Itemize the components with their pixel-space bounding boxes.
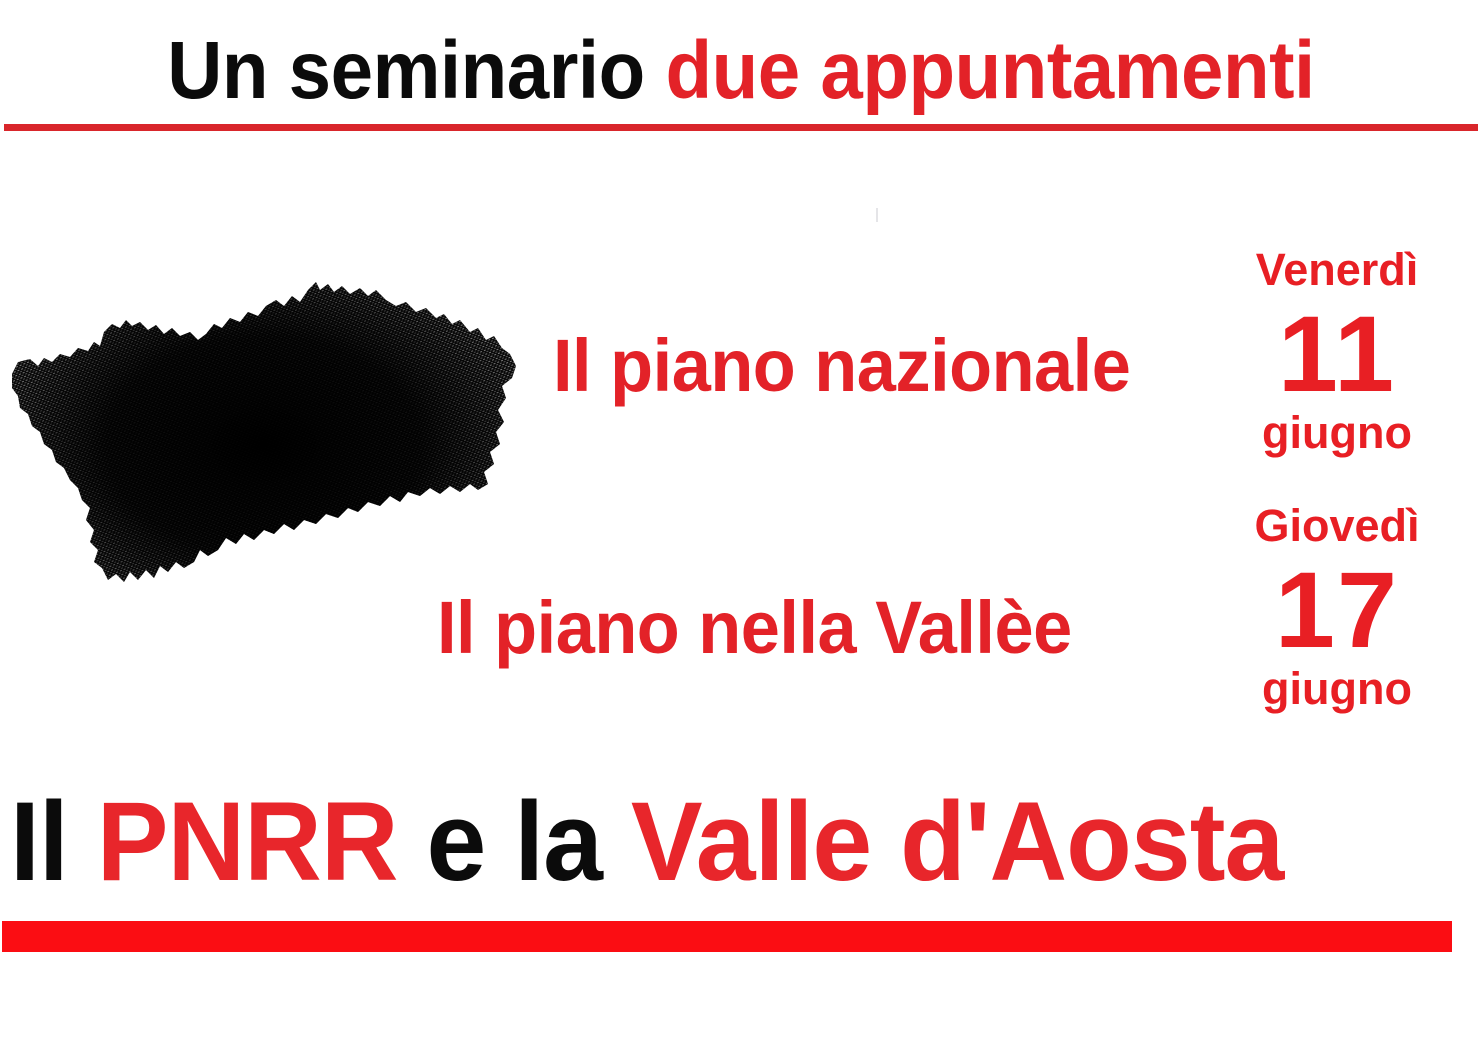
main-headline-word-4: Valle d'Aosta: [631, 779, 1283, 904]
session-2-title: Il piano nella Vallèe: [437, 589, 1072, 667]
session-1-date-block: Venerdì 11 giugno: [1212, 246, 1462, 456]
session-2-weekday: Giovedì: [1212, 502, 1462, 550]
stray-mark: [876, 208, 878, 222]
session-1-month: giugno: [1212, 410, 1462, 456]
top-divider-rule: [4, 124, 1478, 131]
bottom-divider-bar: [2, 921, 1452, 952]
session-2-month: giugno: [1212, 666, 1462, 712]
page-title-red-part: due appuntamenti: [665, 25, 1314, 116]
session-1-weekday: Venerdì: [1212, 246, 1462, 294]
main-headline-word-3: e la: [426, 779, 602, 904]
session-2-date-block: Giovedì 17 giugno: [1212, 502, 1462, 712]
poster-canvas: Un seminario due appuntamenti: [0, 0, 1482, 1044]
page-title-black-part: Un seminario: [167, 25, 645, 116]
page-title: Un seminario due appuntamenti: [52, 28, 1430, 114]
session-1-title: Il piano nazionale: [553, 327, 1130, 405]
session-1-day-number: 11: [1212, 302, 1462, 406]
main-headline-word-2: PNRR: [97, 779, 398, 904]
main-headline: Il PNRR e la Valle d'Aosta: [10, 786, 1414, 898]
valle-daosta-map-icon: [8, 262, 520, 614]
session-2-day-number: 17: [1212, 558, 1462, 662]
main-headline-word-1: Il: [10, 779, 68, 904]
